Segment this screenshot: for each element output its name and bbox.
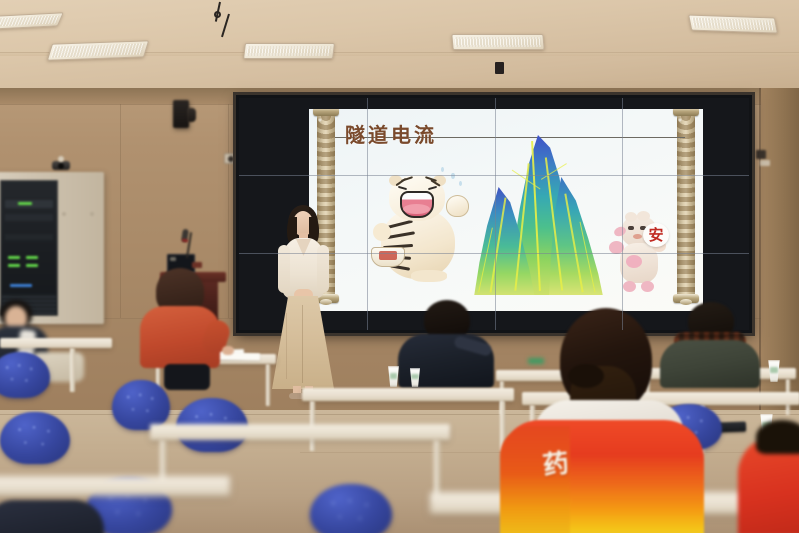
crying-tiger-illustration	[367, 171, 477, 281]
video-wall-bezel	[239, 253, 749, 254]
rack-lock	[62, 212, 66, 216]
video-wall-bezel	[239, 175, 749, 176]
rack-led	[10, 284, 32, 287]
desk	[302, 388, 514, 401]
ceiling-light-panel	[451, 34, 544, 50]
desk-object[interactable]	[528, 358, 544, 364]
dark-clothing	[0, 500, 104, 533]
monitor-screen-glare	[170, 257, 176, 261]
chair[interactable]	[112, 380, 170, 430]
video-wall-bezel	[367, 98, 368, 330]
desk-leg	[70, 348, 75, 392]
rack-led	[26, 256, 38, 259]
ceiling-light-panel	[243, 43, 335, 59]
scroll-pillar-cap	[673, 109, 699, 116]
audience-student-red-jacket: 药	[516, 308, 702, 533]
ceiling-light-panel	[688, 15, 778, 34]
desk-leg	[266, 364, 270, 406]
rack-led	[26, 264, 38, 267]
rack-unit	[5, 214, 53, 221]
rack-led	[8, 264, 20, 267]
classroom-scene: 隧道电流	[0, 0, 799, 533]
video-wall-bezel	[495, 98, 496, 330]
scroll-pillar-body	[677, 116, 695, 294]
desk	[0, 476, 230, 496]
presenter	[272, 205, 334, 400]
audience-person-red-right	[742, 420, 799, 533]
jacket-character: 药	[534, 446, 578, 485]
hair-tie	[568, 364, 604, 388]
wall-panel-line	[228, 104, 229, 318]
rack-unit	[5, 234, 53, 240]
scroll-pillar-cap	[313, 109, 339, 116]
skirt-fold	[286, 313, 287, 379]
presenter-skirt	[272, 296, 334, 389]
camera-dome	[58, 156, 64, 162]
ceiling-hook-ring-icon	[214, 11, 221, 18]
skirt-fold	[302, 305, 303, 383]
hand	[222, 346, 234, 355]
rack-led	[18, 202, 32, 205]
chair[interactable]	[0, 412, 70, 464]
wall-speaker-horn	[187, 108, 196, 122]
cartoon-sheep-illustration: 安	[607, 215, 669, 295]
desk	[150, 424, 450, 440]
sheep-sign-character: 安	[643, 224, 669, 246]
wall-control-plate	[756, 150, 766, 159]
rack-lock	[90, 212, 94, 216]
ceiling-light-panel	[47, 40, 149, 60]
rack-led	[8, 256, 20, 259]
video-wall-bezel	[622, 98, 623, 330]
hair	[756, 420, 799, 454]
ptz-camera	[52, 161, 70, 170]
wall-plate-lower	[760, 160, 770, 166]
wall-panel-line	[120, 104, 121, 318]
audience-woman-orange	[138, 268, 224, 388]
legs	[164, 364, 210, 390]
desk	[0, 338, 112, 348]
slide-title: 隧道电流	[345, 119, 437, 148]
presentation-slide: 隧道电流	[309, 109, 703, 311]
audience-foreground-left	[0, 500, 104, 533]
ceiling-sensor	[495, 62, 504, 74]
gradient-mountain-illustration	[473, 135, 605, 295]
